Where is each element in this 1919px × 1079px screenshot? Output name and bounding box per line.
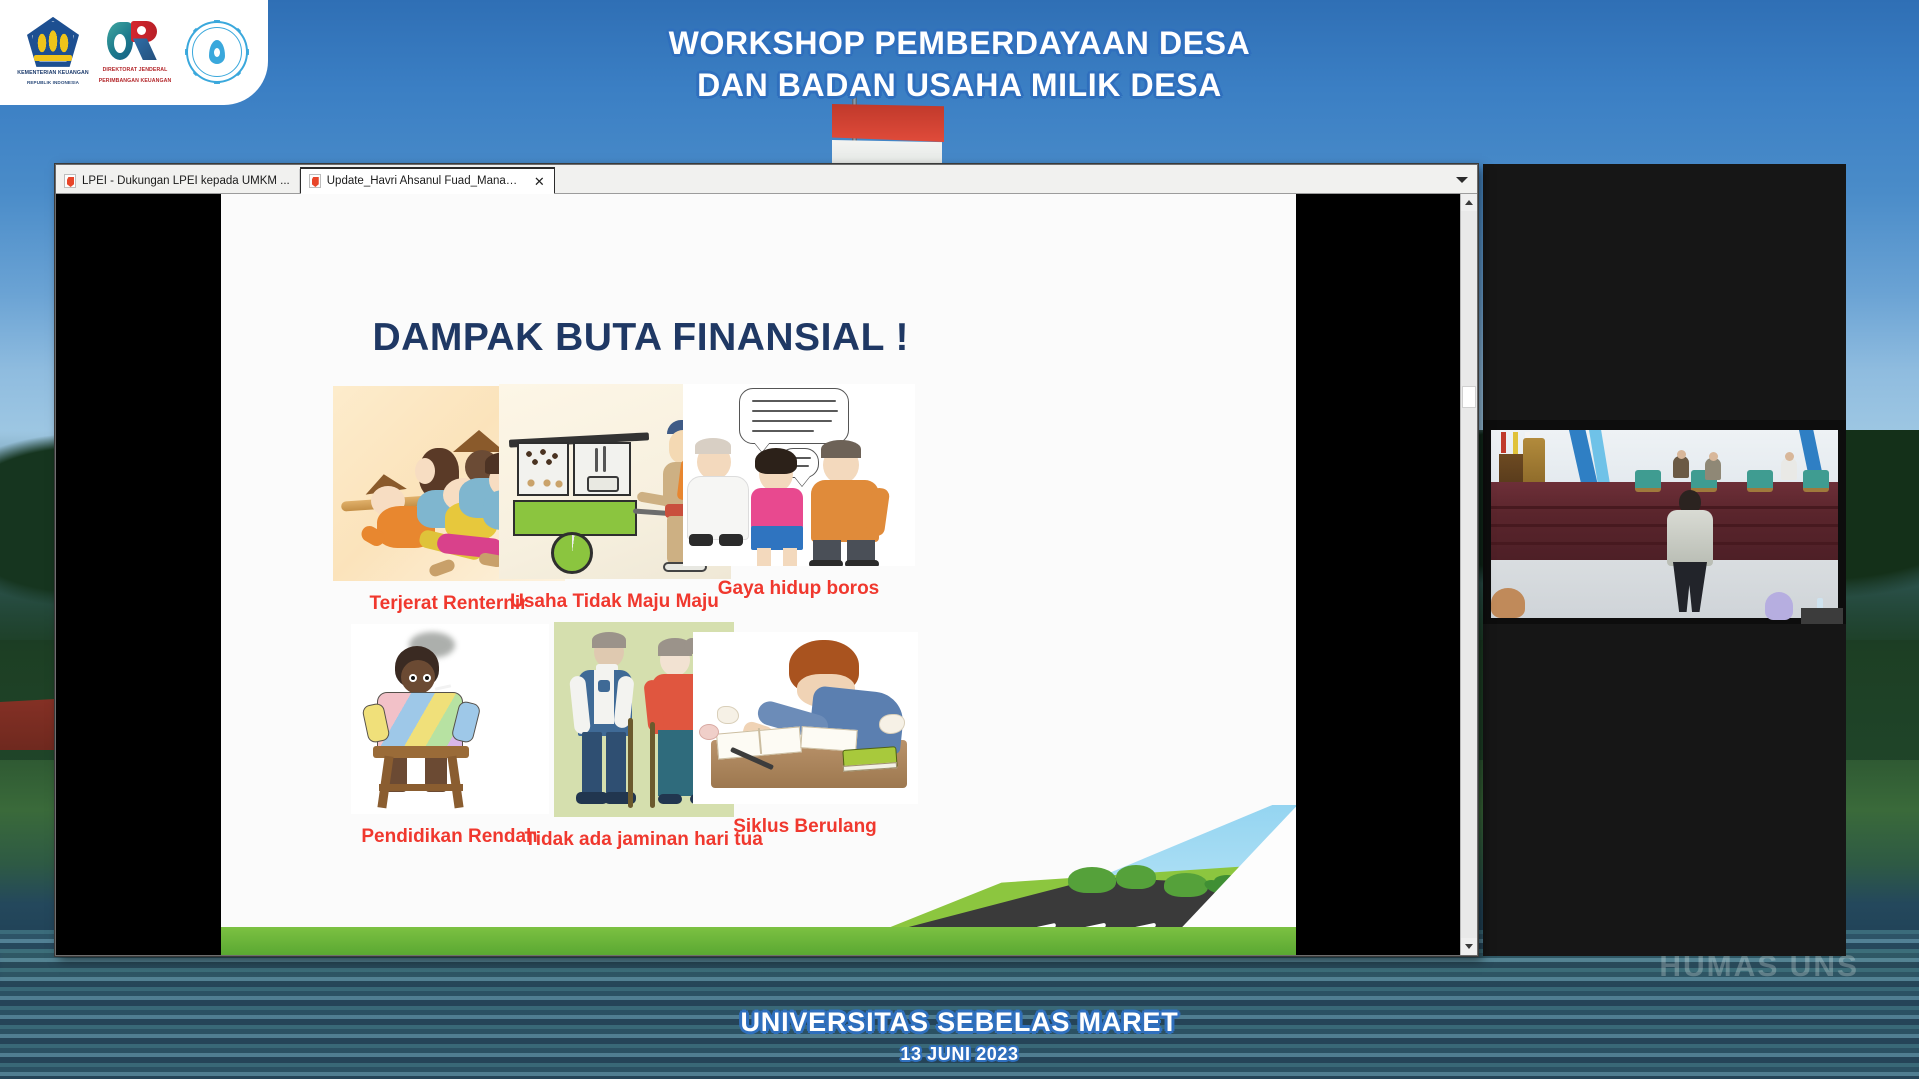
panelist-head	[1709, 452, 1718, 461]
speaker-body	[1667, 510, 1713, 566]
logo-djpk: DIREKTORAT JENDERAL PERIMBANGAN KEUANGAN	[98, 18, 172, 84]
tab-lpei[interactable]: LPEI - Dukungan LPEI kepada UMKM ...	[56, 169, 300, 193]
organizer-logo-card: KEMENTERIAN KEUANGAN REPUBLIK INDONESIA …	[0, 0, 268, 105]
man-smoking-on-stool-illustration	[351, 624, 549, 814]
slide-caption-gaya-hidup-boros: Gaya hidup boros	[718, 578, 880, 600]
student-asleep-over-books-illustration	[693, 632, 918, 804]
slide-item-gaya-hidup-boros: Gaya hidup boros	[683, 384, 915, 600]
tab-lpei-label: LPEI - Dukungan LPEI kepada UMKM ...	[82, 175, 290, 187]
pdf-file-icon	[64, 174, 76, 188]
speech-bubble	[739, 388, 849, 444]
djpk-monogram-icon	[105, 18, 165, 64]
scroll-up-arrow-icon[interactable]	[1461, 194, 1477, 211]
presentation-slide: DAMPAK BUTA FINANSIAL !	[221, 194, 1296, 955]
shared-screen-document-window: LPEI - Dukungan LPEI kepada UMKM ... Upd…	[55, 164, 1478, 956]
webcam-video-feed[interactable]	[1483, 420, 1846, 624]
panelist	[1673, 456, 1689, 478]
panel-chair	[1747, 470, 1773, 492]
logo-djpk-line1: DIREKTORAT JENDERAL	[103, 67, 168, 74]
background-flag-red	[832, 104, 944, 142]
scroll-down-arrow-icon[interactable]	[1461, 938, 1477, 955]
document-tab-strip: LPEI - Dukungan LPEI kepada UMKM ... Upd…	[56, 165, 1477, 194]
tab-update-havri-label: Update_Havri Ahsanul Fuad_Manajem...	[327, 175, 518, 187]
logo-uns	[180, 21, 254, 83]
panelist-head	[1785, 452, 1794, 461]
scrollbar-thumb[interactable]	[1462, 386, 1476, 408]
panelist	[1705, 458, 1721, 480]
video-panel	[1483, 164, 1846, 956]
document-vertical-scrollbar[interactable]	[1460, 194, 1477, 955]
document-viewer-body: DAMPAK BUTA FINANSIAL !	[56, 194, 1477, 955]
pdf-file-icon	[309, 174, 321, 188]
logo-kementerian-keuangan: KEMENTERIAN KEUANGAN REPUBLIK INDONESIA	[16, 17, 90, 86]
uns-seal-icon	[186, 21, 248, 83]
panel-chair	[1635, 470, 1661, 492]
close-icon[interactable]: ✕	[534, 175, 545, 188]
tab-update-havri[interactable]: Update_Havri Ahsanul Fuad_Manajem... ✕	[300, 168, 555, 194]
audience-member	[1765, 592, 1793, 620]
gossiping-people-speech-bubble-illustration	[683, 384, 915, 566]
slide-title: DAMPAK BUTA FINANSIAL !	[373, 316, 910, 360]
logo-kemenkeu-line1: KEMENTERIAN KEUANGAN	[17, 70, 88, 77]
logo-kemenkeu-line2: REPUBLIK INDONESIA	[27, 80, 79, 86]
panelist-head	[1677, 450, 1686, 459]
scrollbar-track[interactable]	[1461, 211, 1477, 938]
chevron-down-icon[interactable]	[1453, 171, 1471, 189]
audience-member	[1491, 588, 1525, 618]
slide-footer-decoration	[221, 805, 1296, 955]
presentation-stage: HUMAS UNS KEMENTERIAN KEUANGAN REPUBLIK …	[0, 0, 1919, 1079]
panelist	[1781, 458, 1797, 480]
kemenkeu-pentagon-icon	[27, 17, 79, 67]
document-viewer-canvas[interactable]: DAMPAK BUTA FINANSIAL !	[56, 194, 1460, 955]
logo-djpk-line2: PERIMBANGAN KEUANGAN	[99, 78, 172, 85]
panel-chair	[1803, 470, 1829, 492]
stage-platform	[1491, 482, 1838, 562]
